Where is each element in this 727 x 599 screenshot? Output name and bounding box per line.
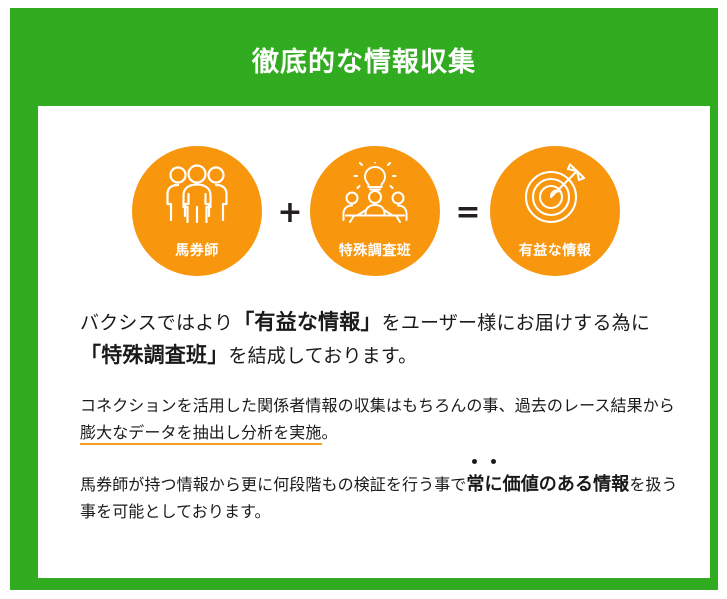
para3-emphasis-rest: 価値のある情報 — [503, 474, 630, 495]
equals-sign: = — [450, 198, 486, 228]
emphasis-dot-2 — [491, 459, 496, 464]
orange-circle: 馬券師 — [132, 146, 262, 276]
lightbulb-team-icon — [310, 158, 440, 230]
diagram-label-3: 有益な情報 — [490, 243, 620, 259]
diagram-item-1: 馬券師 — [132, 146, 262, 276]
para2-part1: コネクションを活用した関係者情報の収集はもちろんの事、過去のレース結果から — [80, 396, 675, 415]
lead-part1: バクシスではより — [80, 312, 233, 334]
para3-part1: 馬券師が持つ情報から更に何段階もの検証を行う事で — [80, 475, 466, 494]
diagram-label-2: 特殊調査班 — [310, 243, 440, 259]
orange-circle: 有益な情報 — [490, 146, 620, 276]
lead-paragraph: バクシスではより「有益な情報」をユーザー様にお届けする為に「特殊調査班」を結成し… — [80, 306, 680, 372]
green-frame: 徹底的な情報収集 — [10, 8, 718, 590]
para3-dotted-emphasis: 常に — [466, 474, 502, 495]
content-panel: 馬券師 + — [38, 106, 710, 578]
paragraph-2: コネクションを活用した関係者情報の収集はもちろんの事、過去のレース結果から膨大な… — [80, 392, 680, 446]
para3-emphasis-dotted-text: 常に — [466, 474, 502, 495]
target-arrow-icon — [490, 158, 620, 230]
lead-part2: をユーザー様にお届けする為に — [382, 312, 650, 334]
diagram-item-2: 特殊調査班 — [310, 146, 440, 276]
para2-underlined: 膨大なデータを抽出し分析を実施 — [80, 423, 322, 445]
body-copy: バクシスではより「有益な情報」をユーザー様にお届けする為に「特殊調査班」を結成し… — [80, 306, 680, 525]
plus-sign: + — [272, 198, 308, 228]
page-title: 徹底的な情報収集 — [10, 46, 718, 80]
lead-part3: を結成しております。 — [228, 345, 417, 367]
para2-part2: 。 — [322, 423, 338, 442]
diagram-item-3: 有益な情報 — [490, 146, 620, 276]
three-people-icon — [132, 158, 262, 230]
page-root: 徹底的な情報収集 — [0, 0, 727, 599]
paragraph-3: 馬券師が持つ情報から更に何段階もの検証を行う事で常に価値のある情報を扱う事を可能… — [80, 471, 680, 525]
diagram-icon-row: 馬券師 + — [38, 146, 710, 278]
emphasis-dot-1 — [472, 459, 477, 464]
orange-circle: 特殊調査班 — [310, 146, 440, 276]
lead-emphasis-2: 「特殊調査班」 — [80, 343, 228, 367]
diagram-label-1: 馬券師 — [132, 243, 262, 259]
lead-emphasis-1: 「有益な情報」 — [233, 310, 381, 334]
